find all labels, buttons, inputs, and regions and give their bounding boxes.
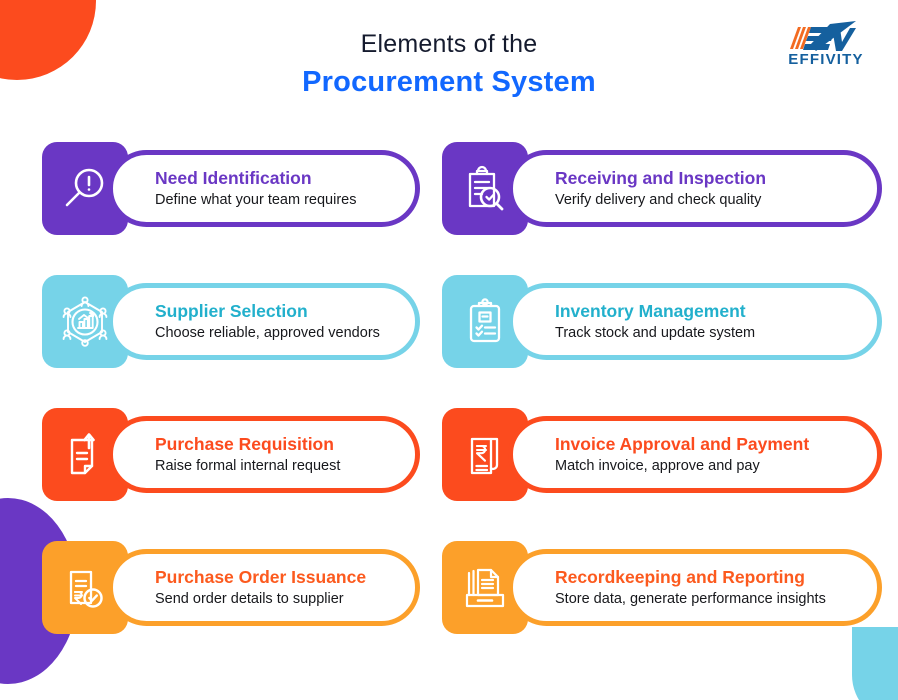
card-purchase-requisition[interactable]: Purchase Requisition Raise formal intern…: [42, 408, 420, 501]
card-title: Purchase Requisition: [155, 433, 399, 455]
card-text-pill: Inventory Management Track stock and upd…: [508, 283, 882, 360]
card-subtitle: Define what your team requires: [155, 190, 399, 210]
card-subtitle: Choose reliable, approved vendors: [155, 323, 399, 343]
card-subtitle: Track stock and update system: [555, 323, 861, 343]
card-purchase-order-issuance[interactable]: Purchase Order Issuance Send order detai…: [42, 541, 420, 634]
cards-row-1: Need Identification Define what your tea…: [0, 142, 898, 275]
card-text-pill: Purchase Order Issuance Send order detai…: [108, 549, 420, 626]
cards-grid: Need Identification Define what your tea…: [0, 142, 898, 674]
effivity-logo: EFFIVITY: [770, 18, 882, 68]
cards-row-3: Purchase Requisition Raise formal intern…: [0, 408, 898, 541]
card-subtitle: Store data, generate performance insight…: [555, 589, 861, 609]
card-title: Supplier Selection: [155, 300, 399, 322]
card-text-pill: Receiving and Inspection Verify delivery…: [508, 150, 882, 227]
card-need-identification[interactable]: Need Identification Define what your tea…: [42, 142, 420, 235]
card-title: Invoice Approval and Payment: [555, 433, 861, 455]
card-title: Receiving and Inspection: [555, 167, 861, 189]
card-title: Recordkeeping and Reporting: [555, 566, 861, 588]
card-title: Purchase Order Issuance: [155, 566, 399, 588]
svg-text:EFFIVITY: EFFIVITY: [788, 51, 863, 68]
card-text-pill: Invoice Approval and Payment Match invoi…: [508, 416, 882, 493]
card-subtitle: Raise formal internal request: [155, 456, 399, 476]
card-receiving-and-inspection[interactable]: Receiving and Inspection Verify delivery…: [442, 142, 882, 235]
cards-row-2: Supplier Selection Choose reliable, appr…: [0, 275, 898, 408]
card-text-pill: Purchase Requisition Raise formal intern…: [108, 416, 420, 493]
page-title: Elements of the Procurement System: [0, 28, 898, 101]
card-inventory-management[interactable]: Inventory Management Track stock and upd…: [442, 275, 882, 368]
card-supplier-selection[interactable]: Supplier Selection Choose reliable, appr…: [42, 275, 420, 368]
card-text-pill: Recordkeeping and Reporting Store data, …: [508, 549, 882, 626]
card-invoice-approval-and-payment[interactable]: Invoice Approval and Payment Match invoi…: [442, 408, 882, 501]
card-text-pill: Need Identification Define what your tea…: [108, 150, 420, 227]
card-title: Need Identification: [155, 167, 399, 189]
card-title: Inventory Management: [555, 300, 861, 322]
title-line-2: Procurement System: [0, 63, 898, 101]
card-subtitle: Match invoice, approve and pay: [555, 456, 861, 476]
title-line-1: Elements of the: [0, 28, 898, 60]
effivity-logo-mark-icon: EFFIVITY: [770, 18, 882, 68]
card-subtitle: Verify delivery and check quality: [555, 190, 861, 210]
card-recordkeeping-and-reporting[interactable]: Recordkeeping and Reporting Store data, …: [442, 541, 882, 634]
card-subtitle: Send order details to supplier: [155, 589, 399, 609]
header: Elements of the Procurement System: [0, 0, 898, 128]
cards-row-4: Purchase Order Issuance Send order detai…: [0, 541, 898, 674]
infographic-canvas: Elements of the Procurement System: [0, 0, 898, 700]
card-text-pill: Supplier Selection Choose reliable, appr…: [108, 283, 420, 360]
